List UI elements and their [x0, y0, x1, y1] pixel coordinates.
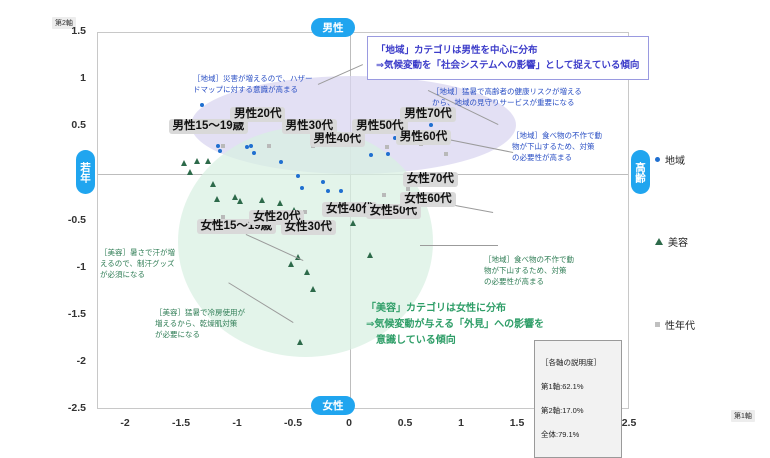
data-point-beauty: [194, 158, 200, 164]
data-point-segment: [406, 187, 410, 191]
data-point-beauty: [214, 196, 220, 202]
y-tick-label: 1: [46, 72, 86, 84]
explained-axis2: 第2軸:17.0%: [541, 405, 615, 417]
point-label: 男性20代: [230, 107, 285, 122]
point-label: 男性60代: [396, 130, 451, 145]
point-label: 男性70代: [400, 107, 455, 122]
data-point-region: [218, 149, 222, 153]
data-point-segment: [385, 145, 389, 149]
x-tick-label: 0: [329, 417, 369, 429]
legend-item-region[interactable]: 地域: [655, 152, 685, 167]
point-label: 女性60代: [400, 192, 455, 207]
circle-marker-icon: [655, 157, 660, 162]
data-point-beauty: [210, 181, 216, 187]
point-label: 女性70代: [403, 172, 458, 187]
badge-senior: 高齢: [631, 150, 650, 194]
data-point-region: [252, 151, 256, 155]
data-point-segment: [444, 152, 448, 156]
x-tick-label: 0.5: [385, 417, 425, 429]
data-point-beauty: [350, 220, 356, 226]
y-tick-label: -1.5: [46, 308, 86, 320]
badge-young: 若年: [76, 150, 95, 194]
x-tick-label: 1.5: [497, 417, 537, 429]
data-point-beauty: [187, 169, 193, 175]
explained-axis1: 第1軸:62.1%: [541, 381, 615, 393]
data-point-segment: [221, 144, 225, 148]
annotation-dryskin: ［美容］猛暑で冷房使用が 増えるから、乾燥肌対策 が必要になる: [155, 308, 275, 341]
x-axis-title: 第1軸: [731, 410, 755, 422]
data-point-beauty: [367, 252, 373, 258]
chart-canvas: 第2軸 第1軸 男性15〜19歳男性20代男性30代男性40代男性50代男性60…: [0, 0, 770, 445]
annotation-sweat: ［美容］暑さで汗が増 えるので、制汗グッズ が必須になる: [100, 248, 200, 281]
data-point-region: [216, 144, 220, 148]
data-point-region: [386, 152, 390, 156]
data-point-beauty: [259, 197, 265, 203]
annotation-mimamori: ［地域］猛暑で高齢者の健康リスクが増える から、地域の見守りサービスが重要になる: [432, 87, 632, 109]
y-tick-label: 0.5: [46, 119, 86, 131]
data-point-region: [279, 160, 283, 164]
data-point-beauty: [237, 198, 243, 204]
data-point-region: [245, 145, 249, 149]
x-tick-label: 1: [441, 417, 481, 429]
data-point-beauty: [304, 269, 310, 275]
explained-title: ［各軸の説明度］: [541, 357, 615, 369]
explained-total: 全体:79.1%: [541, 429, 615, 441]
y-tick-label: -1: [46, 261, 86, 273]
legend-item-beauty[interactable]: 美容: [655, 234, 688, 249]
data-point-region: [326, 189, 330, 193]
x-tick-label: -1: [217, 417, 257, 429]
x-tick-label: -0.5: [273, 417, 313, 429]
data-point-segment: [382, 193, 386, 197]
legend-label-beauty: 美容: [668, 234, 688, 249]
data-point-region: [369, 153, 373, 157]
data-point-beauty: [310, 286, 316, 292]
x-tick-label: -1.5: [161, 417, 201, 429]
data-point-beauty: [205, 158, 211, 164]
y-tick-label: -2.5: [46, 402, 86, 414]
annotation-wildlife-top: ［地域］食べ物の不作で動 物が下山するため、対策 の必要性が高まる: [512, 131, 622, 164]
y-tick-label: 1.5: [46, 25, 86, 37]
annotation-hazard: ［地域］災害が増えるので、ハザー ドマップに対する意識が高まる: [193, 74, 343, 96]
summary-region: 「地域」カテゴリは男性を中心に分布 ⇒気候変動を「社会システムへの影響」として捉…: [367, 36, 649, 80]
data-point-beauty: [277, 200, 283, 206]
annotation-wildlife-bottom: ［地域］食べ物の不作で動 物が下山するため、対策 の必要性が高まる: [484, 255, 599, 288]
legend-label-segment: 性年代: [665, 317, 695, 332]
y-tick-label: -2: [46, 355, 86, 367]
point-label: 女性30代: [281, 220, 336, 235]
legend-item-segment[interactable]: 性年代: [655, 317, 695, 332]
square-marker-icon: [655, 322, 660, 327]
triangle-marker-icon: [655, 238, 663, 245]
data-point-region: [300, 186, 304, 190]
legend-label-region: 地域: [665, 152, 685, 167]
data-point-beauty: [297, 339, 303, 345]
leader-line: [420, 245, 498, 246]
data-point-segment: [267, 144, 271, 148]
badge-female: 女性: [311, 396, 355, 415]
data-point-region: [321, 180, 325, 184]
explained-variance-box: ［各軸の説明度］ 第1軸:62.1% 第2軸:17.0% 全体:79.1%: [534, 340, 622, 458]
badge-male: 男性: [311, 18, 355, 37]
data-point-region: [200, 103, 204, 107]
y-tick-label: -0.5: [46, 214, 86, 226]
data-point-beauty: [181, 160, 187, 166]
x-tick-label: -2: [105, 417, 145, 429]
data-point-beauty: [288, 261, 294, 267]
